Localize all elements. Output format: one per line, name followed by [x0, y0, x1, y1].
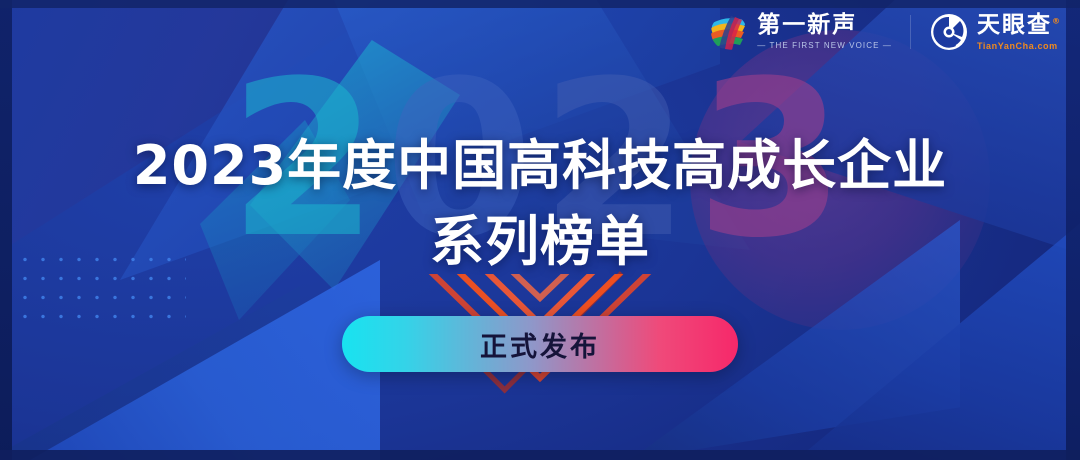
- logo-first-new-voice-name: 第一新声: [757, 14, 892, 37]
- release-status-badge[interactable]: 正式发布: [342, 316, 738, 372]
- title-line-2: 系列榜单: [0, 204, 1080, 280]
- background-edge-bottom: [0, 450, 1080, 460]
- release-status-label: 正式发布: [480, 325, 600, 364]
- page-title: 2023年度中国高科技高成长企业 系列榜单: [0, 128, 1080, 280]
- background-edge-top: [0, 0, 1080, 8]
- logo-divider: [910, 15, 911, 49]
- tianyancha-eye-logo-icon: [929, 12, 969, 52]
- logo-tianyancha-name: 天眼查®: [977, 14, 1062, 37]
- logo-tianyancha-name-text: 天眼查: [977, 12, 1052, 38]
- award-announcement-banner: 2023 2023年度中国高科技高成长企业 系列榜单 正式发布: [0, 0, 1080, 460]
- logo-first-new-voice[interactable]: 第一新声 — THE FIRST NEW VOICE —: [709, 12, 892, 52]
- title-line-1: 2023年度中国高科技高成长企业: [0, 128, 1080, 204]
- partner-logos: 第一新声 — THE FIRST NEW VOICE — 天眼查® TianYa…: [709, 12, 1062, 52]
- logo-tianyancha[interactable]: 天眼查® TianYanCha.com: [929, 12, 1062, 52]
- logo-tianyancha-domain: TianYanCha.com: [977, 42, 1062, 51]
- first-new-voice-logo-icon: [709, 12, 749, 52]
- trademark-icon: ®: [1052, 16, 1062, 25]
- logo-first-new-voice-tagline: — THE FIRST NEW VOICE —: [757, 42, 892, 50]
